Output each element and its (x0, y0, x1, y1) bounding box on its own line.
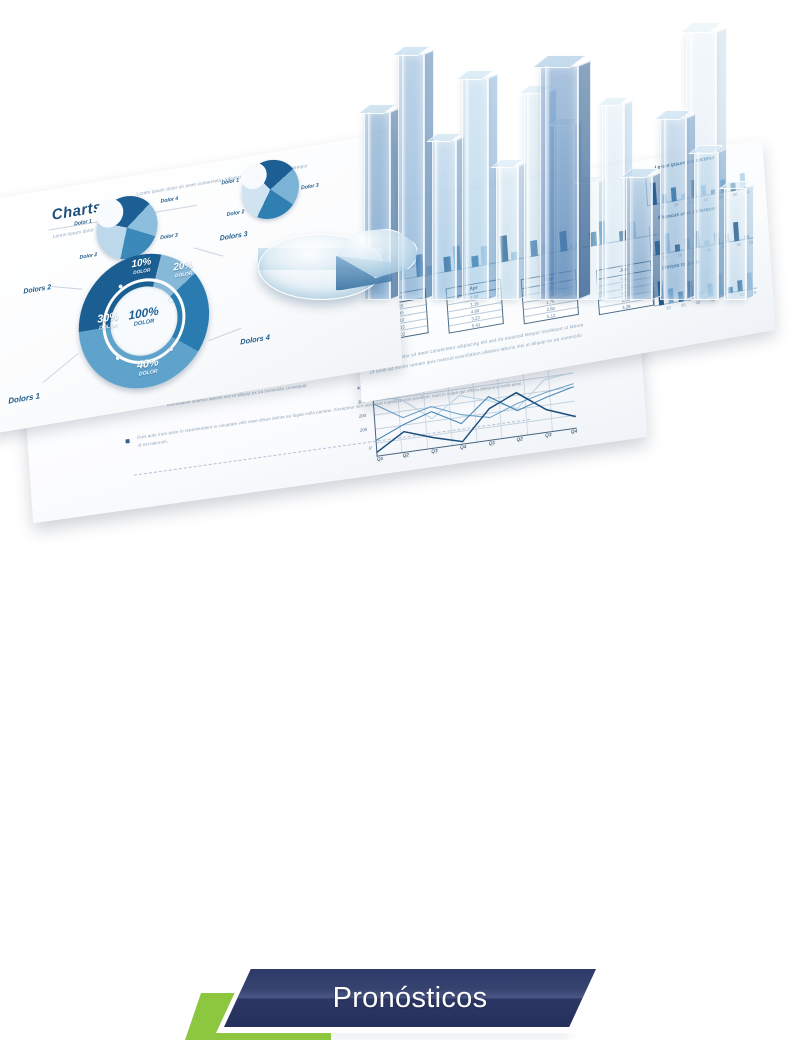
poster-canvas: Q1 1,10 2,30 3,50 4,70 Q2 2,40 1,85 4,10… (0, 0, 800, 593)
donut-1-legend-item: Dolor 3 (160, 232, 178, 241)
x-tick: 10 (666, 305, 671, 311)
donut-2-legend-item: Dolor 3 (301, 182, 319, 191)
y-tick: 200 (359, 413, 367, 419)
donut-hole (240, 161, 267, 191)
donut-label-dolors-1: Dolors 1 (8, 391, 40, 405)
donut-label-dolors-2: Dolors 2 (23, 284, 51, 296)
glass-bar (626, 176, 652, 300)
y-tick: 100 (360, 427, 368, 433)
footer-banner: Pronósticos (0, 470, 800, 593)
donut-stud (169, 347, 173, 352)
banner-navy-plate (224, 969, 596, 1027)
glass-bar (496, 166, 518, 300)
glass-bar (602, 104, 624, 300)
y-tick: 0 (369, 445, 372, 450)
donut-2-legend-item: Dolor 2 (227, 209, 245, 218)
x-tick: Q4 (571, 430, 578, 436)
donut-label-dolors-3: Dolors 3 (220, 231, 248, 243)
x-tick: Q1 (377, 457, 384, 463)
glass-pie-chart (258, 228, 424, 320)
donut-1-legend-item: Dolor 2 (79, 252, 97, 261)
x-tick: Q1 (489, 441, 496, 447)
glass-bar (694, 152, 718, 300)
donut-segment-label-2: 10% DOLOR (120, 255, 164, 278)
donut-stud (116, 356, 120, 361)
donut-1-legend-item: Dolor 4 (160, 196, 178, 205)
x-tick: Q2 (402, 453, 409, 459)
glass-bar (462, 78, 488, 300)
x-tick: 30 (696, 299, 701, 305)
donut-2-legend-item: Dolor 1 (221, 177, 239, 186)
donut-label-dolors-4: Dolors 4 (240, 333, 270, 347)
x-tick: Q3 (431, 449, 438, 455)
glass-bar (540, 66, 578, 300)
list-bullet (125, 439, 129, 443)
main-donut-chart: 100% DOLOR 30% DOLOR 10% DOLOR (76, 244, 212, 399)
glass-bar (432, 140, 456, 300)
donut-segment-label-3: 20% DOLOR (161, 258, 205, 281)
x-tick: 20 (681, 302, 686, 308)
x-tick: Q4 (460, 445, 467, 451)
glass-bar (660, 118, 686, 300)
x-tick: Q3 (545, 433, 552, 439)
x-tick: Q2 (516, 437, 523, 443)
glass-bar (724, 188, 746, 300)
